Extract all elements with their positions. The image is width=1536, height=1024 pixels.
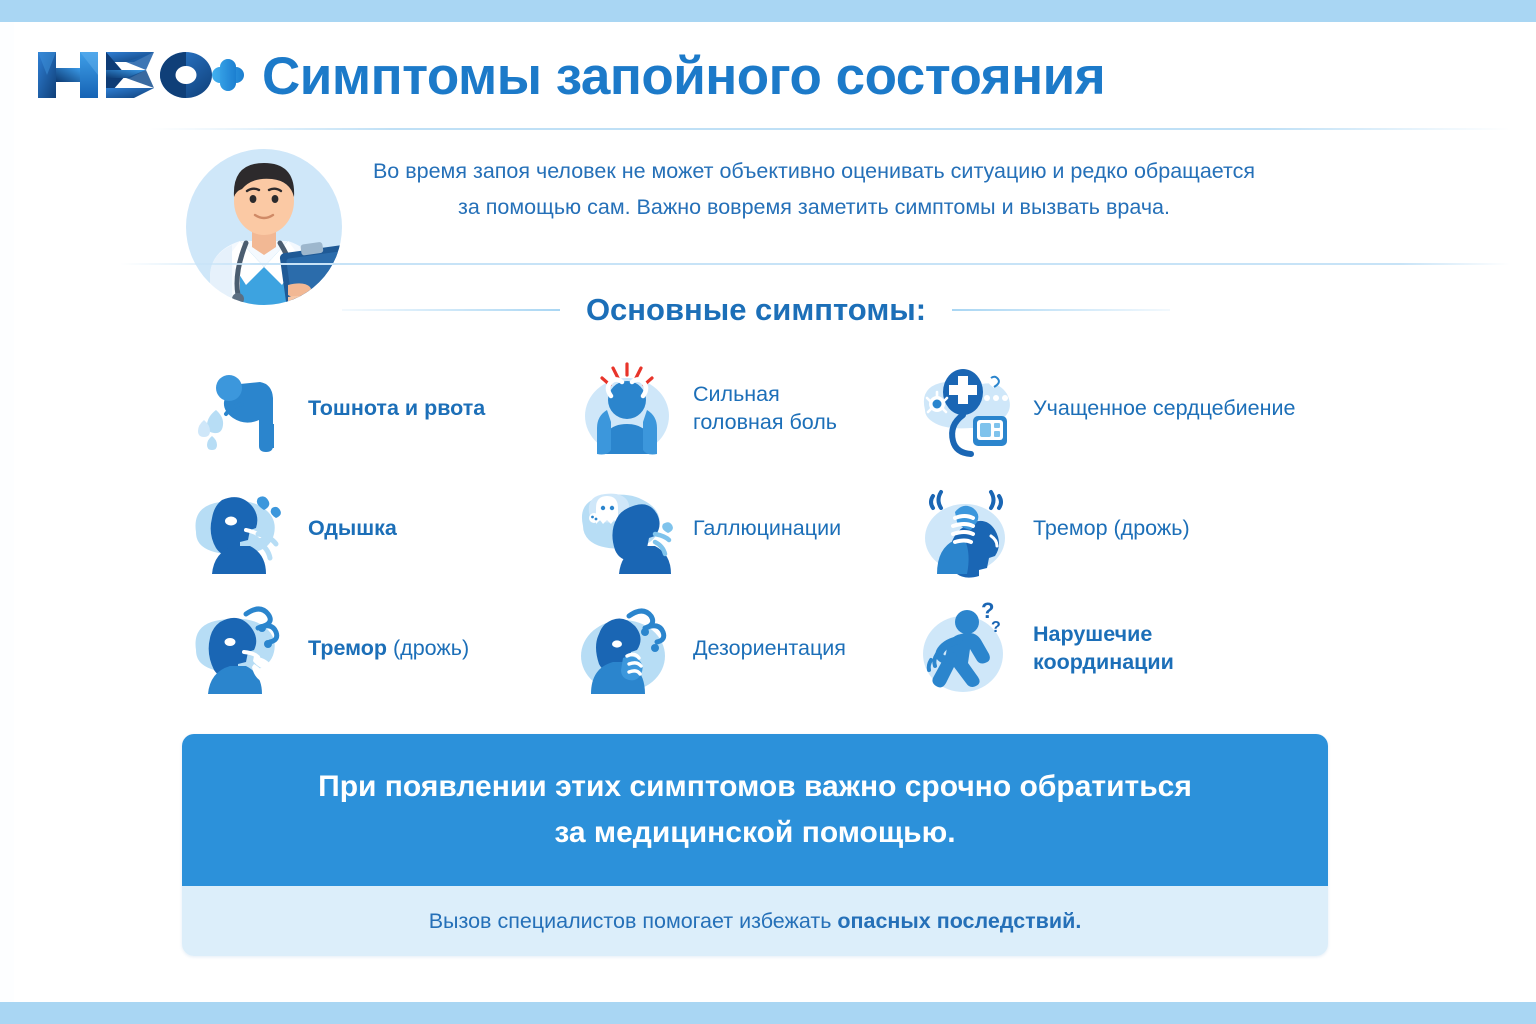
intro-divider [120,263,1510,265]
main-symptoms-heading: Основные симптомы: [176,288,1336,332]
banner-main-line-2: за медицинской помощью. [222,810,1288,856]
symptom-label-regular: Тремор (дрожь) [1033,516,1190,540]
section-title: Основные симптомы: [586,292,926,328]
symptom-item: Учащенное сердцебиение [911,348,1336,468]
banner-main-line-1: При появлении этих симптомов важно срочн… [222,764,1288,810]
symptom-label-regular: Галлюцинации [693,516,841,540]
symptom-label-regular: (дрожь) [393,636,469,660]
tremor-sweat-icon [186,598,294,698]
page-title: Симптомы запойного состояния [262,46,1105,107]
symptom-label-regular: Сильная головная боль [693,382,837,434]
symptom-label: Дезориентация [693,634,846,662]
page-header: Симптомы запойного состояния [0,22,1536,122]
symptom-label: Тремор (дрожь) [308,634,469,662]
symptoms-grid: Тошнота и рвота Сильная го [186,348,1336,708]
symptom-label: Сильная головная боль [693,380,837,436]
symptom-label-regular: Дезориентация [693,636,846,660]
symptom-label-bold: Одышка [308,516,397,540]
blood-pressure-monitor-icon [911,358,1019,458]
symptom-label-bold: Тошнота и рвота [308,396,485,420]
symptom-item: Тремор (дрожь) [911,468,1336,588]
symptom-label: Одышка [308,514,397,542]
headache-person-icon [571,358,679,458]
symptom-item: Одышка [186,468,571,588]
top-accent-band [0,0,1536,22]
symptom-item: Тремор (дрожь) [186,588,571,708]
banner-sub-message: Вызов специалистов помогает избежать опа… [182,886,1328,956]
hallucination-ghost-icon [571,478,679,578]
symptom-label-bold: Нарушечие координации [1033,622,1174,674]
neo-plus-logo-icon [34,44,246,106]
symptom-label: Галлюцинации [693,514,841,542]
symptom-label: Нарушечие координации [1033,620,1174,676]
bottom-accent-band [0,1002,1536,1024]
coordination-loss-icon: ? ? [911,598,1019,698]
heading-rule-right [952,309,1170,311]
banner-main-message: При появлении этих симптомов важно срочн… [182,734,1328,886]
symptom-item: Галлюцинации [571,468,911,588]
call-to-action-banner: При появлении этих симптомов важно срочн… [182,734,1328,956]
disorientation-icon [571,598,679,698]
shortness-of-breath-icon [186,478,294,578]
intro-paragraph: Во время запоя человек не может объектив… [324,153,1304,225]
svg-text:?: ? [991,619,1001,636]
intro-line-1: Во время запоя человек не может объектив… [324,153,1304,189]
symptom-label-bold: Тремор [308,636,393,660]
symptom-item: Тошнота и рвота [186,348,571,468]
left-margin-strip [0,22,14,1002]
symptom-label: Учащенное сердцебиение [1033,394,1295,422]
vomiting-person-icon [186,358,294,458]
symptom-label: Тошнота и рвота [308,394,485,422]
symptom-label: Тремор (дрожь) [1033,514,1190,542]
banner-sub-emphasis: опасных последствий. [837,909,1081,933]
header-divider [150,128,1510,130]
symptom-label-regular: Учащенное сердцебиение [1033,396,1295,420]
symptom-item: ? ? Нарушечие координации [911,588,1336,708]
intro-line-2: за помощью сам. Важно вовремя заметить с… [324,189,1304,225]
head-tremor-icon [911,478,1019,578]
heading-rule-left [342,309,560,311]
symptom-item: Дезориентация [571,588,911,708]
symptom-item: Сильная головная боль [571,348,911,468]
banner-sub-prefix: Вызов специалистов помогает избежать [429,909,838,933]
